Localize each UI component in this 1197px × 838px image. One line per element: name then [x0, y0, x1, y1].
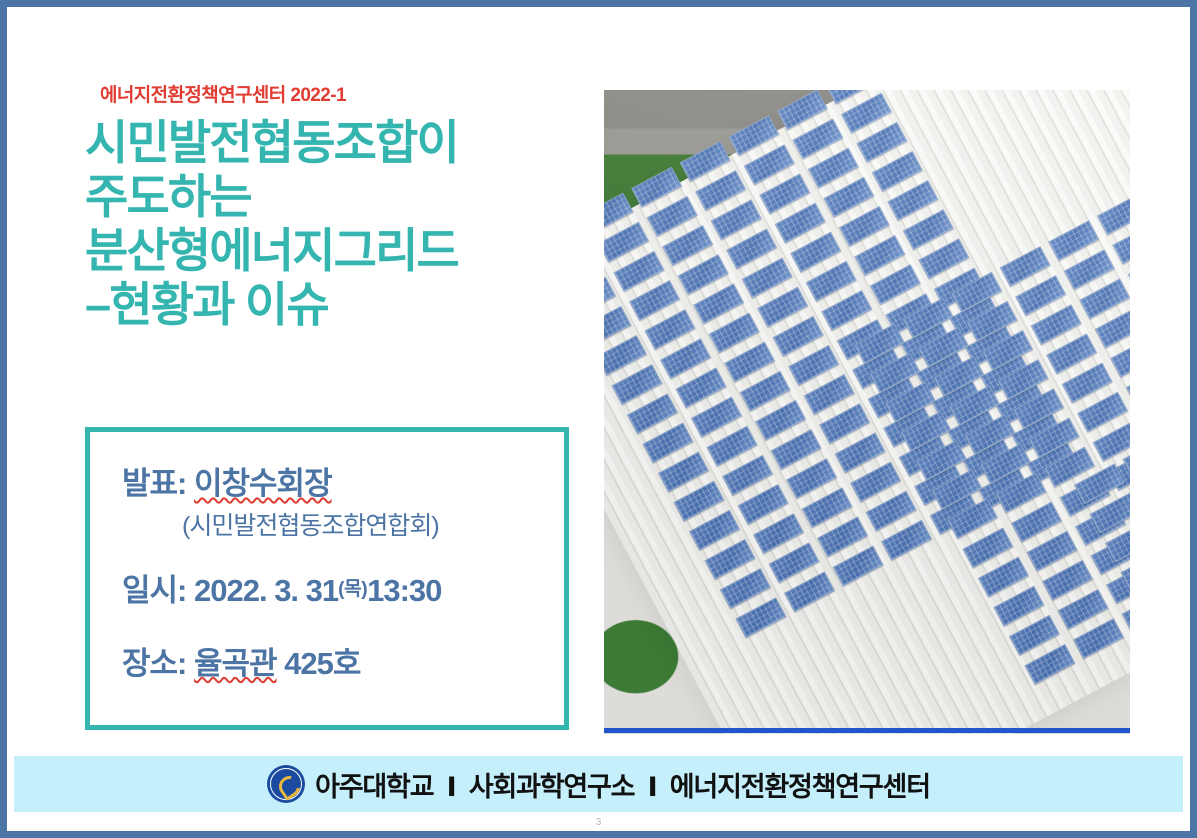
- footer-band: 아주대학교 Ⅰ 사회과학연구소 Ⅰ 에너지전환정책연구센터: [14, 756, 1183, 812]
- datetime-date: 2022. 3. 31: [194, 573, 338, 608]
- solar-panel-arrays: [604, 90, 1130, 734]
- location-building: 율곡관: [194, 646, 277, 681]
- event-details-box: 발표: 이창수회장 (시민발전협동조합연합회) 일시: 2022. 3. 31(…: [85, 427, 569, 730]
- datetime-time: 13:30: [367, 573, 441, 608]
- datetime-row: 일시: 2022. 3. 31(목)13:30: [122, 572, 564, 611]
- location-label: 장소:: [122, 646, 186, 681]
- presentation-slide: 에너지전환정책연구센터 2022-1 시민발전협동조합이 주도하는 분산형에너지…: [0, 0, 1197, 838]
- solar-panel: [1097, 194, 1130, 235]
- datetime-day-of-week: (목): [338, 579, 367, 600]
- solar-panel: [833, 546, 884, 587]
- title-block: 에너지전환정책연구센터 2022-1 시민발전협동조합이 주도하는 분산형에너지…: [85, 85, 585, 332]
- footer-organizations: 아주대학교 Ⅰ 사회과학연구소 Ⅰ 에너지전환정책연구센터: [315, 765, 930, 804]
- solar-panel: [1073, 618, 1124, 659]
- datetime-label: 일시:: [122, 573, 186, 608]
- solar-panel: [1024, 644, 1075, 685]
- presenter-row: 발표: 이창수회장: [122, 465, 564, 504]
- presenter-affiliation: (시민발전협동조합연합회): [182, 506, 564, 542]
- page-title: 시민발전협동조합이 주도하는 분산형에너지그리드 –현황과 이슈: [85, 116, 585, 332]
- presenter-label: 발표:: [122, 466, 186, 501]
- footer-org-center: 에너지전환정책연구센터: [670, 772, 930, 802]
- footer-separator-1: Ⅰ: [440, 772, 463, 802]
- slide-page-number: 3: [7, 817, 1190, 828]
- solar-panel: [1089, 493, 1130, 534]
- ajou-university-seal-icon: [267, 765, 305, 803]
- solar-panel: [881, 520, 932, 561]
- presenter-name: 이창수회장: [194, 466, 332, 501]
- footer-org-institute: 사회과학연구소: [469, 772, 634, 802]
- photo-underline-rule: [604, 728, 1130, 733]
- location-room: 425호: [284, 646, 360, 681]
- solar-panel-photo: [604, 90, 1130, 734]
- location-row: 장소: 율곡관 425호: [122, 645, 564, 684]
- solar-panel: [784, 571, 835, 612]
- footer-separator-2: Ⅰ: [641, 772, 664, 802]
- series-kicker: 에너지전환정책연구센터 2022-1: [100, 85, 585, 108]
- solar-panel: [735, 597, 786, 638]
- footer-org-university: 아주대학교: [315, 772, 433, 802]
